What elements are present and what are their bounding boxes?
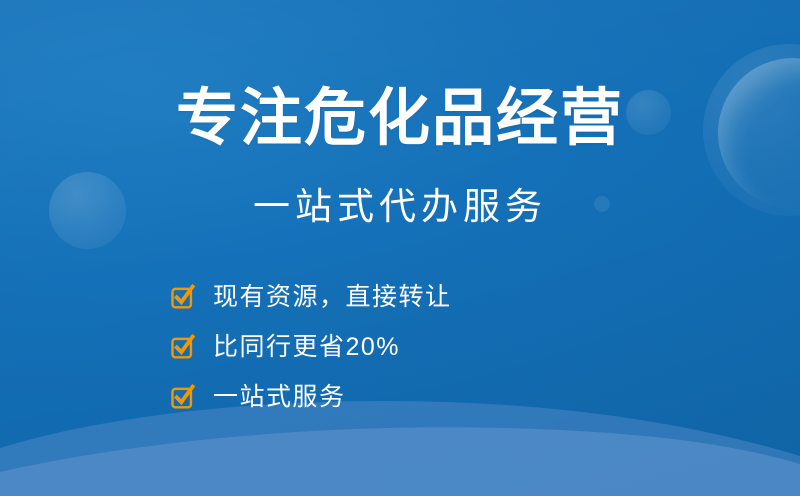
feature-label: 现有资源，直接转让 — [213, 282, 452, 312]
feature-label: 比同行更省20% — [213, 332, 400, 362]
banner-title: 专注危化品经营 — [0, 82, 800, 156]
feature-item: 一站式服务 — [171, 376, 452, 418]
feature-list: 现有资源，直接转让 比同行更省20% 一站式服务 — [171, 276, 452, 418]
checkbox-checked-icon — [171, 285, 195, 309]
feature-item: 比同行更省20% — [171, 326, 452, 368]
checkbox-checked-icon — [171, 335, 195, 359]
checkbox-checked-icon — [171, 385, 195, 409]
promo-banner: 专注危化品经营 一站式代办服务 现有资源，直接转让 比同行更省20% — [0, 0, 800, 496]
banner-content: 专注危化品经营 一站式代办服务 现有资源，直接转让 比同行更省20% — [0, 0, 800, 496]
feature-label: 一站式服务 — [213, 382, 346, 412]
feature-item: 现有资源，直接转让 — [171, 276, 452, 318]
banner-subtitle: 一站式代办服务 — [0, 184, 800, 230]
